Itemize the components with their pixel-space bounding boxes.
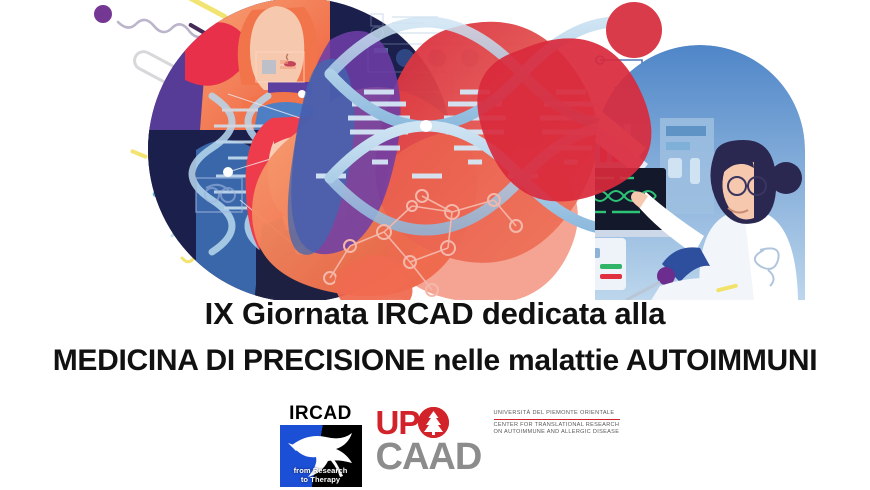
ircad-tagline-line-2: to Therapy (280, 476, 362, 485)
poster-canvas: IX Giornata IRCAD dedicata alla MEDICINA… (0, 0, 870, 490)
title-line-2: MEDICINA DI PRECISIONE nelle malattie AU… (0, 344, 870, 378)
ircad-wordmark: IRCAD (280, 404, 362, 423)
upo-descriptor: UNIVERSITÀ DEL PIEMONTE ORIENTALE CENTER… (494, 409, 626, 437)
accent-circle-red-small (606, 2, 662, 58)
upo-university-line: UNIVERSITÀ DEL PIEMONTE ORIENTALE (494, 409, 626, 417)
illustration-svg (0, 0, 870, 300)
upo-center-line-2: ON AUTOIMMUNE AND ALLERGIC DISEASE (494, 429, 626, 437)
upo-caad-logo: UP CAAD UNIVERSITÀ DEL PIEMONTE ORIENTAL… (376, 404, 591, 486)
title-block: IX Giornata IRCAD dedicata alla MEDICINA… (0, 296, 870, 378)
title-line-1-bold: IX Giornata IRCAD (205, 296, 474, 331)
caad-text: CAAD (376, 438, 482, 476)
upo-up-text: UP (376, 406, 420, 439)
tree-icon (418, 407, 449, 438)
ircad-emblem: from Research to Therapy (280, 425, 362, 487)
logo-row: IRCAD from Research to Therapy UP (0, 404, 870, 490)
upo-row: UP (376, 406, 450, 439)
ircad-logo: IRCAD from Research to Therapy (280, 404, 362, 487)
upo-o-emblem (418, 407, 449, 438)
title-line-1-rest: dedicata alla (473, 296, 665, 331)
upo-center-line-1: CENTER FOR TRANSLATIONAL RESEARCH (494, 422, 626, 430)
hero-illustration (0, 0, 870, 300)
title-line-1: IX Giornata IRCAD dedicata alla (0, 296, 870, 332)
ircad-tagline: from Research to Therapy (280, 467, 362, 484)
upo-divider (494, 419, 620, 420)
